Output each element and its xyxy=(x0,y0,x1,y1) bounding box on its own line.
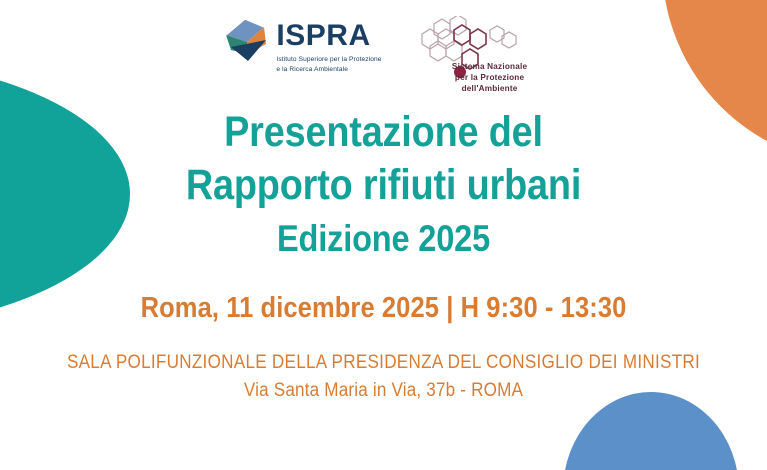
event-poster: ISPRA Istituto Superiore per la Protezio… xyxy=(0,0,767,470)
ispra-diamond-icon xyxy=(223,16,269,64)
blue-dome-shape xyxy=(563,392,739,470)
event-address: Via Santa Maria in Via, 37b - ROMA xyxy=(38,380,728,402)
snpa-name-line2: per la Protezione xyxy=(438,73,542,84)
title-line-3-edition: Edizione 2025 xyxy=(46,216,721,262)
snpa-logo: Sistema Nazionale per la Protezione dell… xyxy=(412,16,544,96)
ispra-wordmark: ISPRA Istituto Superiore per la Protezio… xyxy=(276,16,381,74)
event-venue: SALA POLIFUNZIONALE DELLA PRESIDENZA DEL… xyxy=(38,352,728,374)
ispra-name: ISPRA xyxy=(276,21,381,51)
ispra-subtitle-line2: e la Ricerca Ambientale xyxy=(276,65,381,75)
ispra-logo: ISPRA Istituto Superiore per la Protezio… xyxy=(223,16,381,74)
page-title: Presentazione del Rapporto rifiuti urban… xyxy=(0,106,767,261)
snpa-name-line1: Sistema Nazionale xyxy=(438,62,542,73)
snpa-name-line3: dell'Ambiente xyxy=(438,84,542,95)
ispra-subtitle-line1: Istituto Superiore per la Protezione xyxy=(276,55,381,65)
title-line-1: Presentazione del xyxy=(46,106,721,159)
event-date-time: Roma, 11 dicembre 2025 | H 9:30 - 13:30 xyxy=(46,292,721,325)
snpa-wordmark: Sistema Nazionale per la Protezione dell… xyxy=(438,62,542,94)
event-location: SALA POLIFUNZIONALE DELLA PRESIDENZA DEL… xyxy=(0,352,767,402)
ispra-subtitle: Istituto Superiore per la Protezione e l… xyxy=(276,55,381,74)
title-line-2: Rapporto rifiuti urbani xyxy=(46,159,721,212)
logo-row: ISPRA Istituto Superiore per la Protezio… xyxy=(0,16,767,96)
